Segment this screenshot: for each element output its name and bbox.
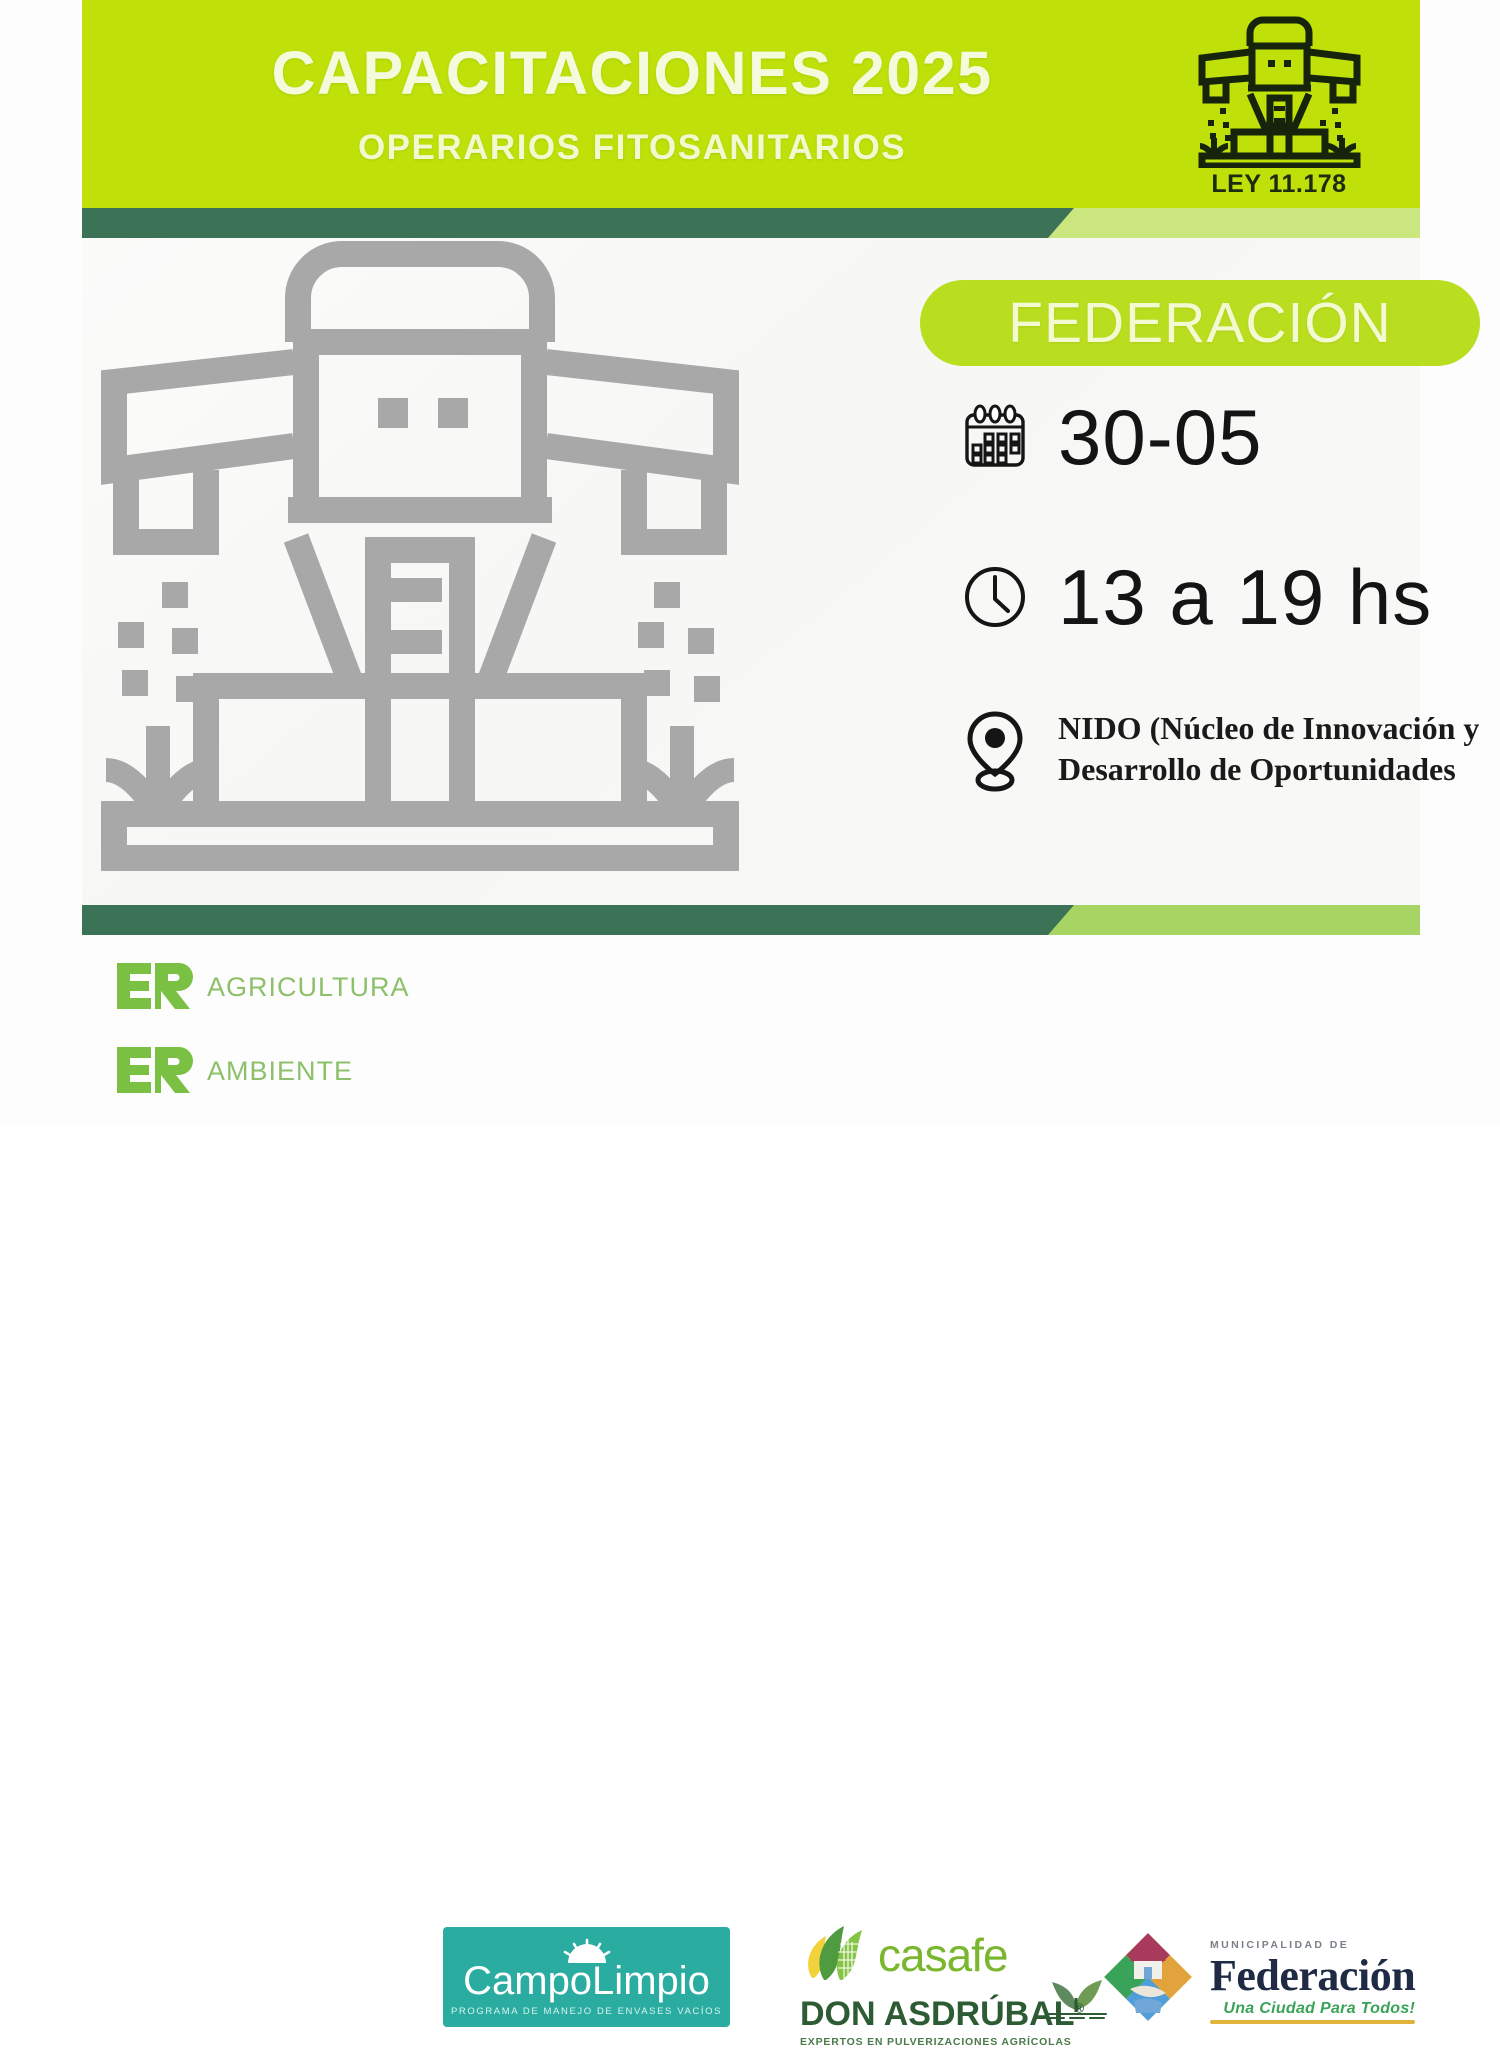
municipality-slogan: Una Ciudad Para Todos! xyxy=(1210,2000,1415,2018)
er-logo-icon xyxy=(115,1045,193,1098)
divider-dark-segment xyxy=(82,208,1082,238)
poster-canvas: CAPACITACIONES 2025 OPERARIOS FITOSANITA… xyxy=(0,0,1500,1125)
venue-line-1: NIDO (Núcleo de Innovación y xyxy=(1058,708,1498,749)
clock-icon xyxy=(958,563,1032,631)
don-asdrubal-tagline: EXPERTOS EN PULVERIZACIONES AGRÍCOLAS xyxy=(800,2036,1050,2048)
sprayer-machine-icon xyxy=(1192,16,1367,168)
header-logo: LEY 11.178 xyxy=(1184,16,1374,201)
event-time-row: 13 a 19 hs xyxy=(958,558,1432,636)
event-info-panel: FEDERACIÓN xyxy=(840,268,1420,868)
municipality-name: Federación xyxy=(1210,1954,1415,1998)
don-asdrubal-name-text: DON ASDRÚBAL xyxy=(800,1995,1075,2033)
er-logos-group: AGRICULTURA AMBIENTE xyxy=(115,958,410,1100)
divider-top xyxy=(82,208,1420,238)
er-label-agricultura: AGRICULTURA xyxy=(207,972,410,1003)
er-label-ambiente: AMBIENTE xyxy=(207,1056,353,1087)
calendar-icon xyxy=(958,403,1032,471)
divider-dark-segment-bottom xyxy=(82,905,1082,935)
law-label: LEY 11.178 xyxy=(1211,170,1346,199)
er-logo-agricultura: AGRICULTURA xyxy=(115,958,410,1016)
location-pill: FEDERACIÓN xyxy=(920,280,1480,366)
page-subtitle: OPERARIOS FITOSANITARIOS xyxy=(358,128,906,168)
casafe-leaf-icon xyxy=(800,1922,872,1987)
poster-body: FEDERACIÓN xyxy=(82,238,1420,905)
event-time-value: 13 a 19 hs xyxy=(1058,558,1432,636)
sprayer-machine-illustration xyxy=(82,238,812,898)
municipality-pretitle: MUNICIPALIDAD DE xyxy=(1210,1939,1349,1951)
divider-bottom xyxy=(82,905,1420,935)
event-date-row: 30-05 xyxy=(958,398,1263,476)
sponsor-footer: AGRICULTURA AMBIENTE xyxy=(0,945,1500,1125)
municipality-logo: MUNICIPALIDAD DE Federación Una Ciudad P… xyxy=(1100,1927,1415,2032)
casafe-name: casafe xyxy=(878,1928,1008,1982)
don-asdrubal-name: DON ASDRÚBAL® xyxy=(800,1995,1050,2034)
municipality-text-block: MUNICIPALIDAD DE Federación Una Ciudad P… xyxy=(1210,1935,1415,2024)
campolimpio-name: CampoLimpio xyxy=(463,1961,710,2001)
don-asdrubal-logo: DON ASDRÚBAL® EXPERTOS EN PULVERIZACIONE… xyxy=(800,1995,1050,2048)
header-text-block: CAPACITACIONES 2025 OPERARIOS FITOSANITA… xyxy=(82,0,1182,210)
divider-light-segment xyxy=(1048,208,1420,238)
venue-line-2: Desarrollo de Oportunidades xyxy=(1058,749,1498,790)
event-venue-text: NIDO (Núcleo de Innovación y Desarrollo … xyxy=(1058,708,1498,790)
casafe-logo: casafe xyxy=(800,1922,1008,1987)
event-date-value: 30-05 xyxy=(1058,398,1263,476)
campolimpio-tagline: PROGRAMA DE MANEJO DE ENVASES VACÍOS xyxy=(451,2006,722,2017)
federacion-diamond-emblem-icon xyxy=(1100,1927,1196,2032)
event-venue-row: NIDO (Núcleo de Innovación y Desarrollo … xyxy=(958,708,1498,796)
campolimpio-logo: CampoLimpio PROGRAMA DE MANEJO DE ENVASE… xyxy=(443,1927,730,2027)
poster-header: CAPACITACIONES 2025 OPERARIOS FITOSANITA… xyxy=(82,0,1420,210)
divider-light-segment-bottom xyxy=(1048,905,1420,935)
page-title: CAPACITACIONES 2025 xyxy=(271,43,992,104)
registered-mark: ® xyxy=(1075,2001,1085,2016)
municipality-slogan-underline xyxy=(1210,2020,1415,2024)
er-logo-icon xyxy=(115,961,193,1014)
map-pin-icon xyxy=(958,708,1032,796)
er-logo-ambiente: AMBIENTE xyxy=(115,1042,410,1100)
location-pill-label: FEDERACIÓN xyxy=(1008,290,1392,356)
